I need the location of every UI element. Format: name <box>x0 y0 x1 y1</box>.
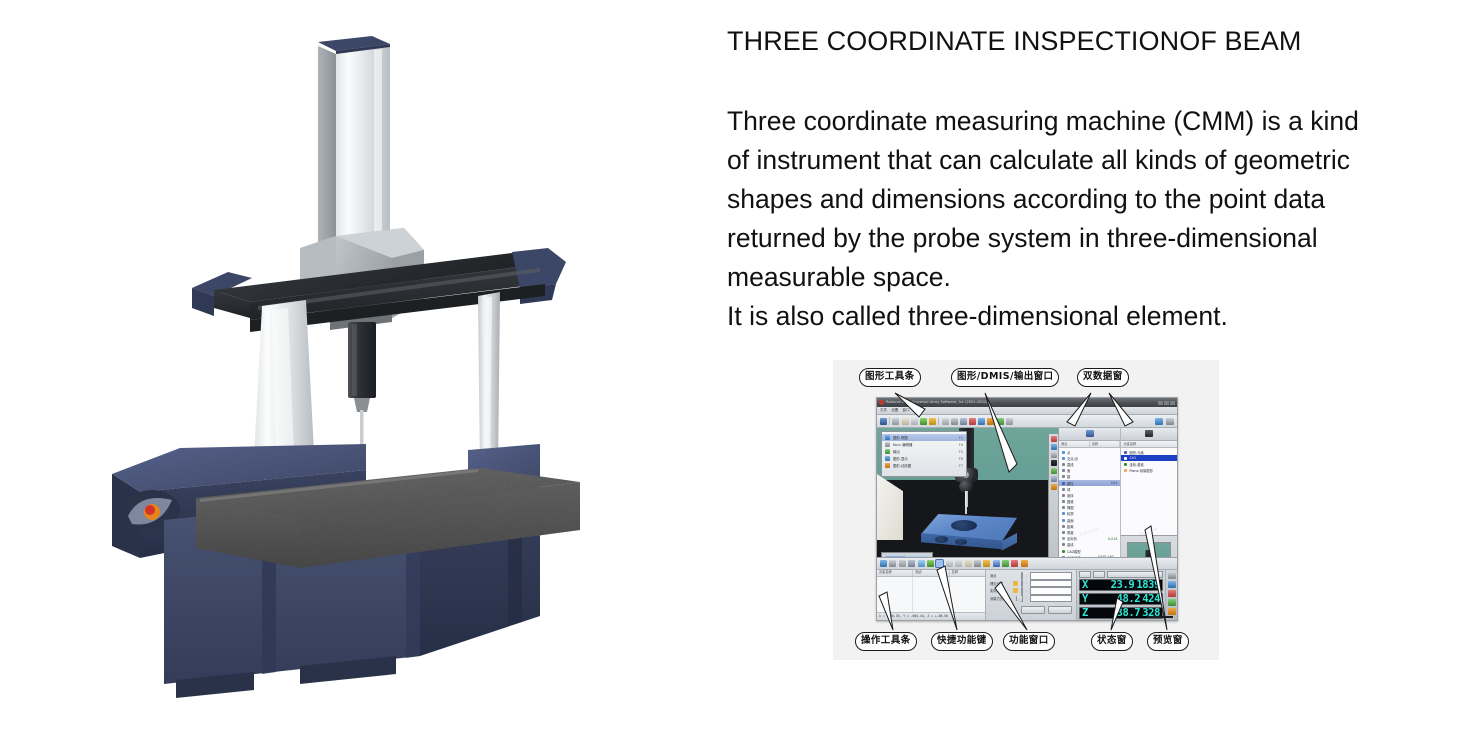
paragraph-line: returned by the probe system in three-di… <box>727 219 1417 258</box>
cmm-machine-svg <box>0 0 700 729</box>
callout-function-window: 功能窗口 <box>1003 632 1055 651</box>
paragraph-line: Three coordinate measuring machine (CMM)… <box>727 102 1417 141</box>
body-paragraph: Three coordinate measuring machine (CMM)… <box>727 58 1417 297</box>
callout-dual-data-window: 双数据窗 <box>1077 368 1129 387</box>
callout-quick-function-keys: 快捷功能键 <box>931 632 993 651</box>
callout-status-window: 状态窗 <box>1091 632 1133 651</box>
text-column: THREE COORDINATE INSPECTIONOF BEAM Three… <box>727 24 1427 336</box>
callout-graphics-toolbar: 图形工具条 <box>859 368 921 387</box>
paragraph-line: shapes and dimensions according to the p… <box>727 180 1417 219</box>
callout-operation-toolbar: 操作工具条 <box>855 632 917 651</box>
paragraph-line: measurable space. <box>727 258 1417 297</box>
callout-graphics-dmis-output-window: 图形/DMIS/输出窗口 <box>951 368 1059 387</box>
touch-probe-stylus <box>348 322 376 453</box>
cmm-machine-illustration <box>0 0 700 729</box>
tagline: It is also called three-dimensional elem… <box>727 297 1427 336</box>
callout-preview-window: 预览窗 <box>1147 632 1189 651</box>
page-title: THREE COORDINATE INSPECTIONOF BEAM <box>727 24 1427 58</box>
software-screenshot-figure: 图形工具条 图形/DMIS/输出窗口 双数据窗 操作工具条 快捷功能键 功能窗口… <box>833 360 1219 660</box>
right-support-rail <box>478 292 500 474</box>
callout-leader-lines <box>833 360 1219 660</box>
paragraph-line: of instrument that can calculate all kin… <box>727 141 1417 180</box>
